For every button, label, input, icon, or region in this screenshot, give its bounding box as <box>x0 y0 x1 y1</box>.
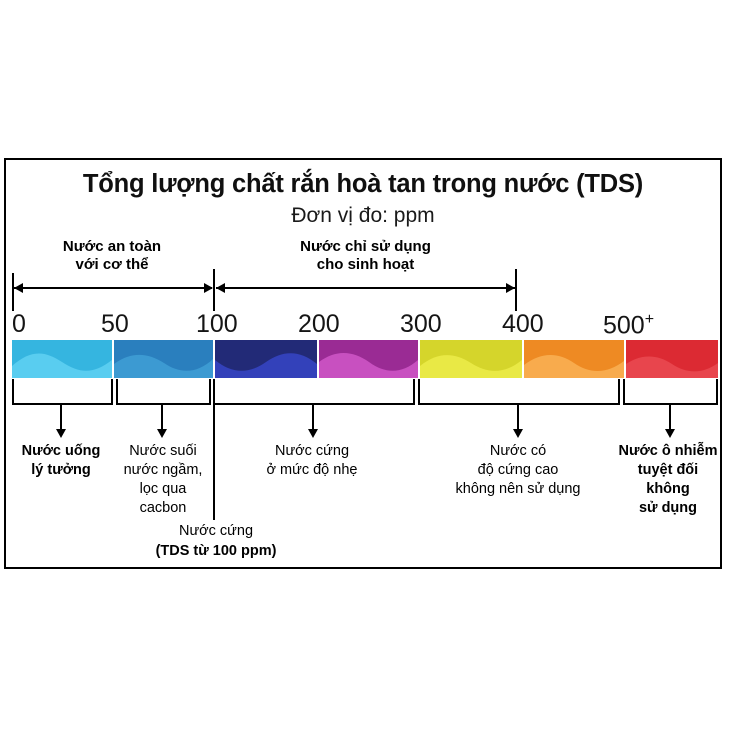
stem-polluted <box>669 404 671 431</box>
range-arrow-safe <box>14 287 212 289</box>
bracket-ideal-drinking <box>12 379 113 405</box>
stem-spring-ground <box>161 404 163 431</box>
top-range-label-safe: Nước an toàn với cơ thể <box>12 238 212 273</box>
hard-water-caption-line1: Nước cứng <box>121 522 311 542</box>
tds-color-scale <box>12 340 718 378</box>
bracket-polluted <box>623 379 718 405</box>
color-segment-200-300 <box>319 340 418 378</box>
stem-head-slightly-hard <box>308 429 318 438</box>
scale-tick-100: 100 <box>196 312 238 337</box>
infographic-card: Tổng lượng chất rắn hoà tan trong nước (… <box>4 158 722 569</box>
hard-water-caption-line2: (TDS từ 100 ppm) <box>121 542 311 562</box>
range-arrow-safe-head-left <box>14 283 23 293</box>
scale-tick-50: 50 <box>101 312 129 337</box>
stem-head-spring-ground <box>157 429 167 438</box>
category-label-slightly-hard-water: Nước cứng ở mức độ nhẹ <box>219 442 405 480</box>
scale-tick-400: 400 <box>502 312 544 337</box>
range-tick-400 <box>515 269 517 311</box>
stem-ideal-drinking <box>60 404 62 431</box>
scale-tick-200: 200 <box>298 312 340 337</box>
hard-water-connector-line <box>213 405 215 520</box>
infographic-root: Tổng lượng chất rắn hoà tan trong nước (… <box>0 0 730 730</box>
bracket-slightly-hard <box>213 379 415 405</box>
scale-tick-0: 0 <box>12 312 26 337</box>
category-label-high-hardness-water: Nước có độ cứng cao không nên sử dụng <box>415 442 621 499</box>
range-arrow-domestic <box>216 287 515 289</box>
color-segment-50-100 <box>114 340 213 378</box>
hard-water-caption: Nước cứng (TDS từ 100 ppm) <box>121 522 311 561</box>
stem-head-high-hardness <box>513 429 523 438</box>
category-label-spring-ground-filtered: Nước suối nước ngầm, lọc qua cacbon <box>111 442 215 519</box>
top-range-label-domestic: Nước chỉ sử dụng cho sinh hoạt <box>213 238 518 273</box>
scale-tick-300: 300 <box>400 312 442 337</box>
page-title: Tổng lượng chất rắn hoà tan trong nước (… <box>6 170 720 199</box>
stem-head-polluted <box>665 429 675 438</box>
range-arrow-domestic-head-right <box>506 283 515 293</box>
page-subtitle: Đơn vị đo: ppm <box>6 204 720 228</box>
range-arrow-safe-head-right <box>204 283 213 293</box>
stem-head-ideal-drinking <box>56 429 66 438</box>
category-label-ideal-drinking-water: Nước uống lý tưởng <box>6 442 116 480</box>
bracket-spring-ground <box>116 379 211 405</box>
color-segment-100-200 <box>215 340 317 378</box>
color-segment-300-400 <box>420 340 522 378</box>
color-segment-0-50 <box>12 340 112 378</box>
stem-high-hardness <box>517 404 519 431</box>
color-segment-400-500 <box>524 340 624 378</box>
range-arrow-domestic-head-left <box>216 283 225 293</box>
category-label-polluted-water: Nước ô nhiễm tuyệt đối không sử dụng <box>614 442 722 519</box>
range-tick-100 <box>213 269 215 311</box>
color-segment-500-plus <box>626 340 718 378</box>
stem-slightly-hard <box>312 404 314 431</box>
bracket-high-hardness <box>418 379 620 405</box>
scale-tick-500: 500+ <box>603 312 654 338</box>
